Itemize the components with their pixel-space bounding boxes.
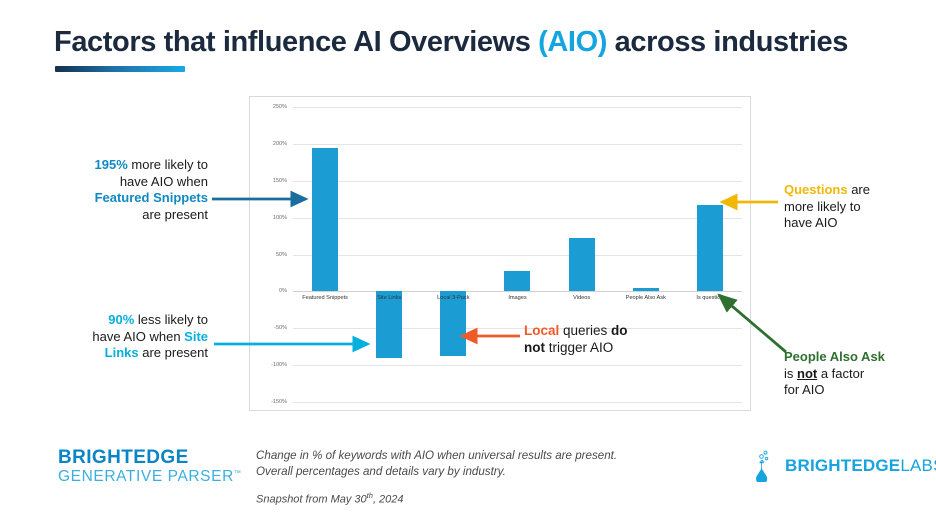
y-axis-tick-label: 150%	[273, 178, 287, 184]
chart-bars	[293, 107, 742, 402]
y-axis-tick-label: 250%	[273, 104, 287, 110]
annotation-q-emphasis: Questions	[784, 182, 848, 197]
brightedge-labs-logo: BRIGHTEDGELABS	[752, 450, 936, 482]
annotation-sl-line3: are present	[139, 345, 208, 360]
annotation-sl-line2-pre: have AIO when	[92, 329, 184, 344]
brand-line-1: BRIGHTEDGE	[58, 448, 241, 468]
chart-bar-slot	[550, 107, 614, 402]
labs-wordmark: BRIGHTEDGELABS	[785, 456, 936, 476]
chart-bar-slot	[678, 107, 742, 402]
annotation-sl-emphasis-b: Links	[105, 345, 139, 360]
page-title-aio: (AIO)	[538, 26, 607, 58]
page-title-before: Factors that influence AI Overviews	[54, 26, 538, 58]
x-axis-tick-label: Site Links	[377, 295, 401, 301]
x-axis-tick-label: Images	[508, 295, 526, 301]
annotation-fs-value: 195%	[95, 157, 128, 172]
slide-root: Factors that influence AI Overviews (AIO…	[0, 0, 936, 524]
annotation-loc-line1: queries	[559, 323, 611, 338]
annotation-loc-emphasis: Local	[524, 323, 559, 338]
chart-plot-area: 250%200%150%100%50%0%-50%-100%-150% Feat…	[293, 107, 742, 402]
annotation-site-links: 90% less likely to have AIO when Site Li…	[18, 312, 208, 362]
x-axis-tick-label: People Also Ask	[626, 295, 666, 301]
annotation-fs-emphasis: Featured Snippets	[95, 190, 208, 205]
annotation-local: Local queries do not trigger AIO	[524, 322, 689, 357]
annotation-fs-line2: have AIO when	[120, 174, 208, 189]
annotation-sl-emphasis-a: Site	[184, 329, 208, 344]
annotation-paa-line2-pre: is	[784, 366, 797, 381]
y-axis-tick-label: -100%	[271, 362, 287, 368]
x-axis-tick-label: Videos	[573, 295, 590, 301]
annotation-fs-line1: more likely to	[128, 157, 208, 172]
y-axis-tick-label: -150%	[271, 399, 287, 405]
annotation-people-also-ask: People Also Ask is not a factor for AIO	[784, 349, 934, 399]
annotation-loc-bold-a: do	[611, 323, 628, 338]
brightedge-generative-parser-logo: BRIGHTEDGE GENERATIVE PARSER™	[58, 448, 241, 485]
y-axis-tick-label: 200%	[273, 141, 287, 147]
caption-line-2: Overall percentages and details vary by …	[256, 465, 506, 478]
chart-bar[interactable]	[312, 148, 338, 292]
annotation-paa-emphasis: People Also Ask	[784, 349, 885, 364]
x-axis-tick-label: Local 3-Pack	[437, 295, 469, 301]
y-axis-tick-label: 50%	[276, 252, 287, 258]
caption-line-1: Change in % of keywords with AIO when un…	[256, 449, 617, 462]
snapshot-date: Snapshot from May 30th, 2024	[256, 491, 696, 508]
chart-bar-slot	[421, 107, 485, 402]
title-underline-rule	[55, 66, 185, 72]
labs-bold-text: BRIGHTEDGE	[785, 456, 900, 475]
brand-line-2: GENERATIVE PARSER™	[58, 468, 241, 485]
annotation-paa-underlined: not	[797, 366, 817, 381]
annotation-q-line2: more likely to	[784, 199, 861, 214]
annotation-loc-bold-b: not	[524, 340, 545, 355]
page-title-after: across industries	[607, 26, 848, 58]
chart-caption: Change in % of keywords with AIO when un…	[256, 448, 696, 508]
snapshot-date-pre: Snapshot from May 30	[256, 494, 367, 506]
x-axis-tick-label: Is question	[696, 295, 723, 301]
annotation-paa-line3: for AIO	[784, 382, 824, 397]
chart-bar[interactable]	[569, 238, 595, 291]
annotation-q-line3: have AIO	[784, 215, 837, 230]
labs-light-text: LABS	[900, 456, 936, 475]
trademark-symbol: ™	[234, 470, 242, 477]
page-title: Factors that influence AI Overviews (AIO…	[54, 26, 848, 59]
annotation-loc-line2: trigger AIO	[545, 340, 613, 355]
gridline: -150%	[293, 402, 742, 403]
chart-bar-slot	[614, 107, 678, 402]
chart-bar[interactable]	[697, 205, 723, 291]
chart-container: 250%200%150%100%50%0%-50%-100%-150% Feat…	[249, 96, 751, 411]
y-axis-tick-label: -50%	[274, 325, 287, 331]
annotation-q-line1: are	[848, 182, 870, 197]
flask-icon	[752, 450, 778, 482]
chart-bar[interactable]	[504, 271, 530, 292]
x-axis-tick-label: Featured Snippets	[302, 295, 348, 301]
y-axis-tick-label: 100%	[273, 215, 287, 221]
snapshot-date-post: , 2024	[373, 494, 404, 506]
chart-bar-slot	[293, 107, 357, 402]
annotation-featured-snippets: 195% more likely to have AIO when Featur…	[28, 157, 208, 224]
brand-line-2-text: GENERATIVE PARSER	[58, 468, 234, 485]
chart-bar[interactable]	[633, 288, 659, 292]
annotation-sl-line1: less likely to	[134, 312, 208, 327]
annotation-paa-line2-post: a factor	[817, 366, 864, 381]
annotation-sl-value: 90%	[108, 312, 134, 327]
annotation-questions: Questions are more likely to have AIO	[784, 182, 934, 232]
y-axis-tick-label: 0%	[279, 288, 287, 294]
chart-bar-slot	[485, 107, 549, 402]
chart-bar-slot	[357, 107, 421, 402]
annotation-fs-line4: are present	[142, 207, 208, 222]
